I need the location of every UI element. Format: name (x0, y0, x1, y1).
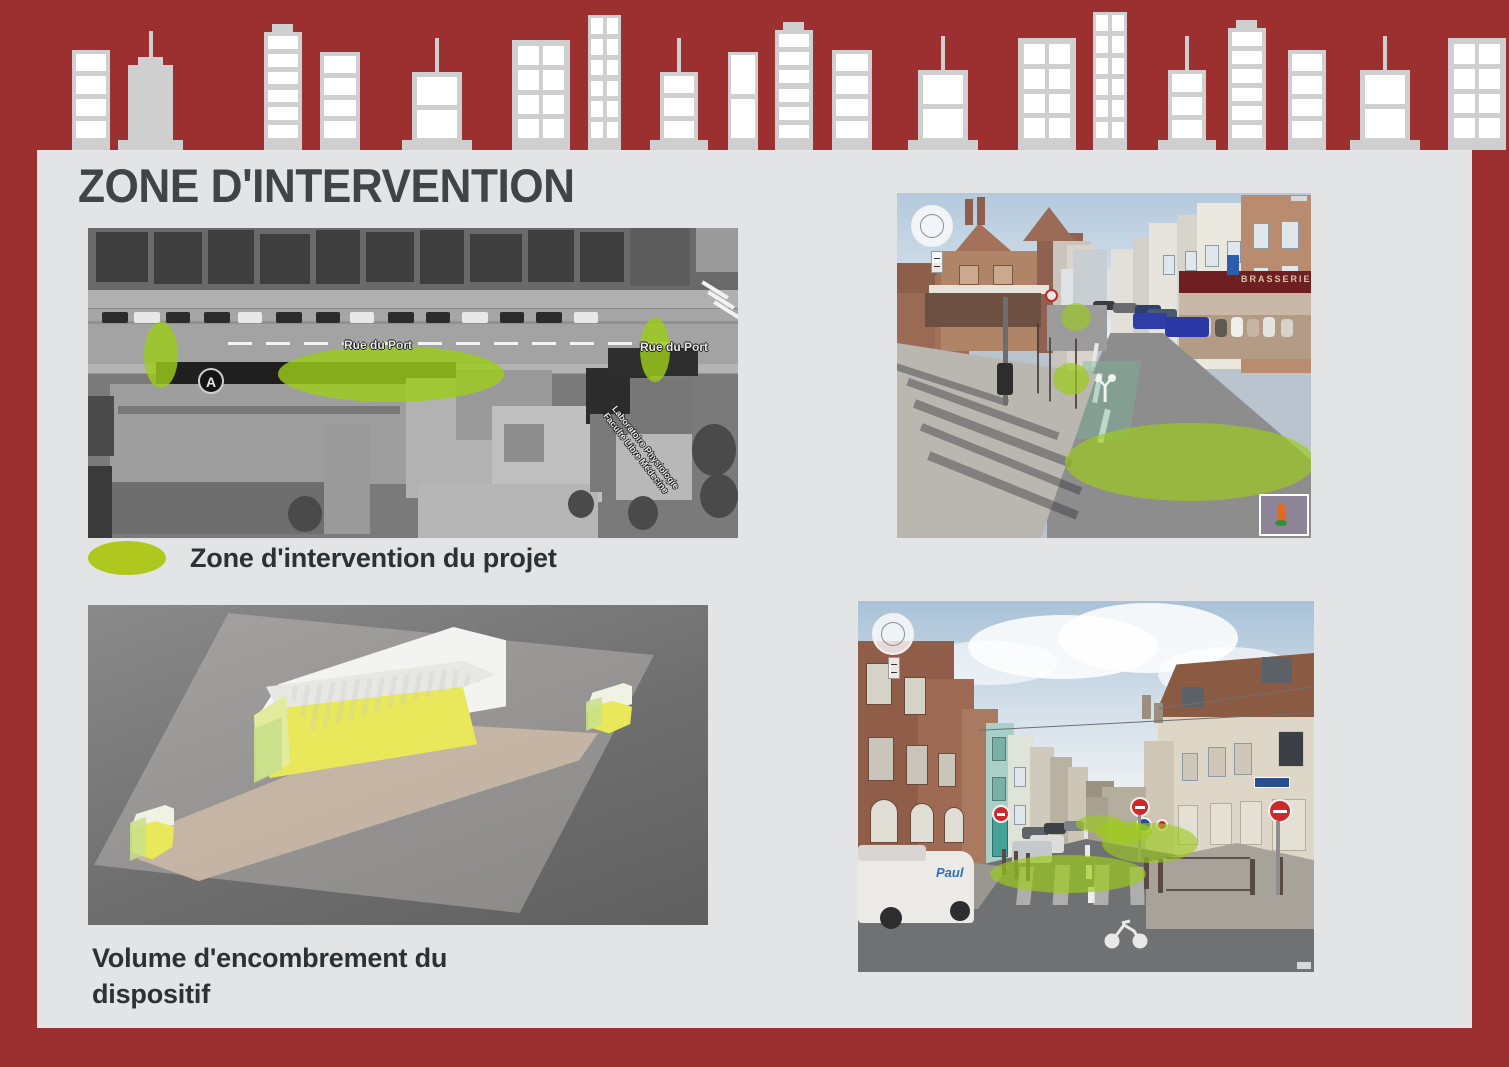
building-window (1232, 106, 1262, 120)
building-window (1479, 44, 1500, 64)
building-base (402, 140, 472, 150)
building-window (1112, 36, 1124, 52)
skyline-building (918, 70, 968, 150)
building-window (1096, 122, 1108, 138)
mini-map-thumbnail[interactable] (1259, 494, 1309, 536)
green-ellipse-swatch (88, 541, 166, 575)
building-window (268, 107, 298, 120)
building-window (923, 75, 963, 104)
building-mast (677, 38, 681, 72)
zone-ellipse-right-side (1102, 823, 1198, 863)
building-window (731, 55, 755, 94)
map-marker-a: A (198, 368, 224, 394)
building-window (1049, 94, 1070, 114)
zone-ellipse-left (144, 322, 178, 388)
building-window (1232, 88, 1262, 102)
building-window (731, 99, 755, 138)
building-base (908, 140, 978, 150)
building-base (118, 140, 183, 150)
building-window (1365, 109, 1405, 138)
skyline-building (264, 32, 302, 150)
skyline-building (320, 52, 360, 150)
skyline-building (1228, 28, 1266, 150)
no-entry-sign-left-icon (992, 805, 1010, 823)
building-window (324, 121, 356, 138)
skyline-building (512, 40, 570, 150)
building-mast (1383, 36, 1387, 70)
caption-line-1: Volume d'encombrement du (92, 941, 612, 977)
building-window (1292, 121, 1322, 138)
building-window (836, 99, 868, 116)
building-base (1350, 140, 1420, 150)
building-window (1232, 32, 1262, 46)
building-window (1024, 69, 1045, 89)
brasserie-sign: BRASSERIE (1241, 274, 1311, 284)
building-window (779, 34, 809, 47)
building-window (779, 70, 809, 83)
skyline-building (72, 50, 110, 150)
building-window (591, 122, 603, 138)
building-window (1172, 74, 1202, 92)
building-window (779, 107, 809, 120)
building-window (76, 54, 106, 71)
building-window (543, 119, 564, 138)
building-window (268, 72, 298, 85)
skyline-building (1448, 38, 1506, 150)
street-label-rue-du-port-2: Rue du Port (640, 340, 708, 354)
building-window (923, 109, 963, 138)
street-view-photo-brasserie[interactable]: BRASSERIE (897, 193, 1311, 538)
building-window (1292, 99, 1322, 116)
building-window (518, 70, 539, 89)
fullscreen-icon[interactable] (1291, 196, 1307, 201)
building-window (76, 121, 106, 138)
city-skyline-banner (0, 0, 1509, 150)
building-window (417, 77, 457, 105)
building-window (1454, 69, 1475, 89)
building-mast (1185, 36, 1189, 70)
physical-scale-model-photo (88, 605, 708, 925)
building-window (518, 95, 539, 114)
building-mast (941, 36, 945, 70)
skyline-building (832, 50, 872, 150)
bicycle-pictogram (1104, 913, 1148, 951)
skyline-building (1093, 12, 1127, 150)
skyline-building (1288, 50, 1326, 150)
skyline-building (1168, 70, 1206, 150)
compass-rosette-icon[interactable] (872, 613, 914, 655)
building-mast (149, 31, 153, 65)
skyline-building (775, 30, 813, 150)
street-view-photo-intersection[interactable]: Paul (858, 601, 1314, 972)
building-window (417, 110, 457, 138)
building-window (268, 54, 298, 67)
building-window (1292, 76, 1322, 93)
building-window (76, 99, 106, 116)
legend: Zone d'intervention du projet (88, 541, 557, 575)
building-window (76, 76, 106, 93)
building-window (1024, 94, 1045, 114)
zone-ellipse-center (278, 346, 504, 402)
building-window (1049, 118, 1070, 138)
building-window (1049, 44, 1070, 64)
building-window (1096, 79, 1108, 95)
building-window (591, 101, 603, 117)
street-label-rue-du-port-1: Rue du Port (344, 338, 412, 352)
building-window (607, 39, 619, 55)
skyline-building (1360, 70, 1410, 150)
fullscreen-icon[interactable] (1297, 962, 1311, 969)
building-window (664, 98, 694, 115)
slide-root: ZONE D'INTERVENTION (0, 0, 1509, 1067)
building-window (779, 52, 809, 65)
building-window (1024, 44, 1045, 64)
building-window (1112, 100, 1124, 116)
skyline-building (728, 52, 758, 150)
building-window (1096, 36, 1108, 52)
building-window (518, 119, 539, 138)
skyline-building (412, 72, 462, 150)
building-window (1232, 69, 1262, 83)
building-window (1454, 44, 1475, 64)
zone-ellipse-foreground (990, 855, 1146, 893)
building-window (518, 46, 539, 65)
building-window (1232, 125, 1262, 139)
building-window (324, 100, 356, 117)
no-entry-sign-center-icon (1130, 797, 1150, 817)
building-window (664, 76, 694, 93)
building-window (1112, 79, 1124, 95)
building-window (836, 121, 868, 138)
building-window (779, 125, 809, 138)
no-entry-sign-icon (1045, 289, 1058, 302)
building-window (1232, 51, 1262, 65)
building-window (1024, 118, 1045, 138)
building-window (591, 60, 603, 76)
skyline-building (1018, 38, 1076, 150)
building-window (1292, 54, 1322, 71)
skyline-building (588, 15, 621, 150)
building-mast (435, 38, 439, 72)
building-window (1454, 118, 1475, 138)
building-window (268, 36, 298, 49)
aerial-photo-site-plan: A Rue du Port Rue du Port Laboratoire Ph… (88, 228, 738, 538)
building-window (268, 125, 298, 138)
building-window (607, 122, 619, 138)
building-window (836, 54, 868, 71)
building-window (1479, 94, 1500, 114)
building-cap (272, 24, 293, 32)
building-window (664, 121, 694, 138)
building-window (1365, 75, 1405, 104)
building-window (543, 46, 564, 65)
skyline-building (660, 72, 698, 150)
building-window (1112, 58, 1124, 74)
building-window (1112, 122, 1124, 138)
building-window (607, 18, 619, 34)
street-name-plate (1254, 777, 1290, 788)
building-window (1172, 120, 1202, 138)
building-window (1096, 100, 1108, 116)
building-window (1096, 15, 1108, 31)
van-logo-text: Paul (936, 865, 970, 891)
building-window (591, 39, 603, 55)
legend-label: Zone d'intervention du projet (190, 543, 557, 574)
building-window (1049, 69, 1070, 89)
building-base (1158, 140, 1216, 150)
model-caption: Volume d'encombrement du dispositif (92, 941, 612, 1012)
building-window (543, 70, 564, 89)
building-window (324, 56, 356, 73)
zoom-control[interactable] (888, 657, 900, 679)
caption-line-2: dispositif (92, 977, 612, 1013)
zoom-control[interactable] (931, 251, 943, 273)
building-window (1479, 69, 1500, 89)
page-title: ZONE D'INTERVENTION (78, 158, 575, 213)
building-window (324, 78, 356, 95)
building-cap (1236, 20, 1257, 28)
building-window (1096, 58, 1108, 74)
building-window (268, 90, 298, 103)
building-window (607, 60, 619, 76)
zone-ellipse-far (1053, 363, 1089, 395)
building-window (543, 95, 564, 114)
building-window (591, 18, 603, 34)
building-window (591, 81, 603, 97)
building-base (650, 140, 708, 150)
building-window (1112, 15, 1124, 31)
building-window (1479, 118, 1500, 138)
compass-rosette-icon[interactable] (911, 205, 953, 247)
building-cap (783, 22, 804, 30)
building-window (607, 81, 619, 97)
zone-ellipse-distant (1061, 303, 1091, 331)
building-window (607, 101, 619, 117)
skyline-building (128, 65, 173, 150)
building-window (1172, 97, 1202, 115)
no-entry-sign-right-icon (1268, 799, 1292, 823)
building-window (779, 89, 809, 102)
building-window (836, 76, 868, 93)
building-window (1454, 94, 1475, 114)
bicycle-pictogram (1093, 373, 1117, 403)
zone-ellipse-foreground (1065, 423, 1311, 501)
